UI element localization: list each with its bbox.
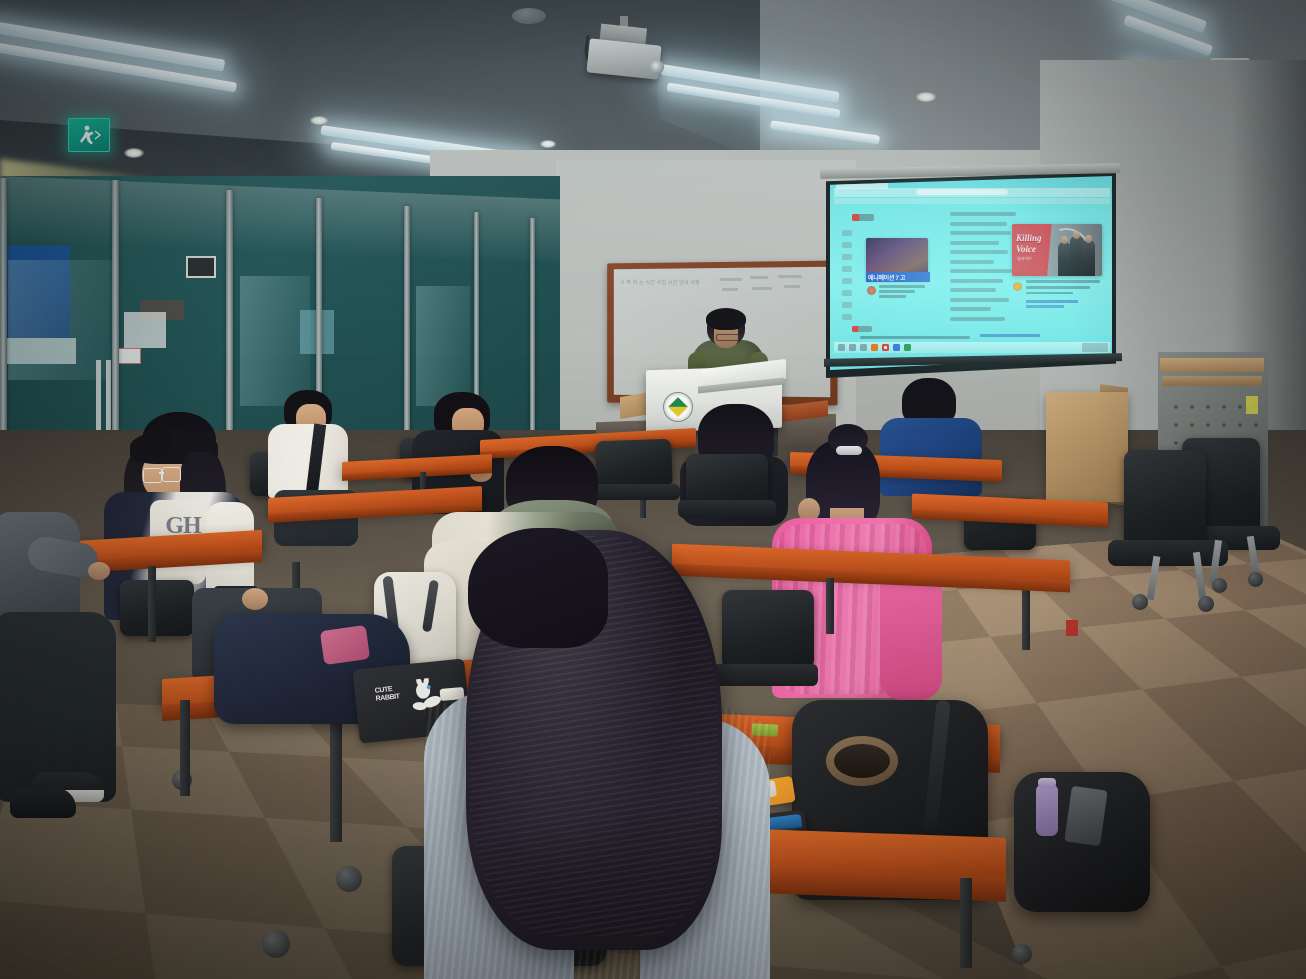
app-icon-green[interactable] xyxy=(904,344,911,351)
video-link[interactable] xyxy=(1026,300,1078,303)
list-item[interactable] xyxy=(950,317,1005,321)
item-in-backpack xyxy=(1064,786,1107,846)
desk-leg xyxy=(148,566,156,642)
desk-leg xyxy=(826,578,834,634)
thumbnail-figure-head xyxy=(1073,231,1080,239)
shelf-plank xyxy=(1162,376,1262,386)
site-logo-icon[interactable] xyxy=(852,214,874,221)
whiteboard-mark xyxy=(722,288,738,291)
eyeglasses-icon xyxy=(143,468,162,483)
stacked-chair-seat[interactable] xyxy=(1108,540,1228,566)
chair-caster xyxy=(1212,578,1227,593)
sidebar-icon[interactable] xyxy=(842,290,852,296)
sidebar-icon[interactable] xyxy=(842,302,852,308)
sidebar-icon[interactable] xyxy=(842,230,852,236)
site-logo-icon-bottom[interactable] xyxy=(852,326,872,332)
classroom-chair[interactable] xyxy=(595,439,673,490)
list-item[interactable] xyxy=(950,279,1003,283)
glass-door-handle[interactable] xyxy=(96,360,101,438)
list-item[interactable] xyxy=(950,307,991,311)
floor-marker xyxy=(1066,620,1078,636)
classroom-chair[interactable] xyxy=(120,580,194,636)
whiteboard-mark xyxy=(750,276,768,279)
video-title-left[interactable]: 에니메이션 7 고 xyxy=(866,272,930,282)
taskbar-clock[interactable] xyxy=(1082,343,1108,352)
shelf-plank xyxy=(1160,358,1264,372)
chair-seat[interactable] xyxy=(712,664,818,686)
recessed-downlight xyxy=(540,140,556,148)
channel-avatar[interactable] xyxy=(1013,282,1022,291)
list-item[interactable] xyxy=(950,298,1009,302)
bottle-cap xyxy=(1038,778,1056,788)
chrome-icon[interactable] xyxy=(882,344,889,351)
recessed-downlight xyxy=(310,116,328,125)
chair-seat[interactable] xyxy=(588,484,680,500)
chair-caster xyxy=(1132,594,1148,610)
sidebar-icon[interactable] xyxy=(842,242,852,248)
horizontal-scrollbar[interactable] xyxy=(860,336,970,339)
pink-item-on-coat xyxy=(320,625,370,665)
sidebar-icon[interactable] xyxy=(842,278,852,284)
eyeglasses-bridge xyxy=(159,472,164,474)
list-item[interactable] xyxy=(950,288,996,292)
student-hand xyxy=(88,562,110,580)
whiteboard-mark xyxy=(784,285,800,288)
whiteboard-mark xyxy=(720,278,742,281)
thumbnail-figure-head xyxy=(1061,236,1068,244)
whiteboard-mark xyxy=(752,287,772,290)
taskbar-app-icons[interactable] xyxy=(838,343,911,352)
channel-avatar[interactable] xyxy=(867,286,876,295)
start-menu-icon[interactable] xyxy=(838,344,845,351)
tablet-case-text: CUTERABBIT xyxy=(375,684,410,703)
whiteboard-notes: 시 작 하 는 시간 수업 시간 안내 사항 xyxy=(620,280,700,314)
classroom-chair[interactable] xyxy=(722,590,814,670)
recessed-downlight xyxy=(916,92,936,102)
wall-frame xyxy=(186,256,216,278)
list-item[interactable] xyxy=(950,269,1012,273)
water-bottle[interactable] xyxy=(1036,784,1058,836)
classroom-chair[interactable] xyxy=(686,454,768,506)
chair-caster xyxy=(1248,572,1263,587)
thumbnail-subtitle: 딜라이브 xyxy=(1017,256,1057,261)
chair-caster xyxy=(1198,596,1214,612)
wall-notice-white xyxy=(124,312,166,348)
video-thumbnail-right[interactable]: Killing Voice 딜라이브 xyxy=(1012,224,1102,276)
desk-leg xyxy=(960,878,972,968)
video-meta-right xyxy=(1026,280,1100,297)
thumbnail-title-text2: Voice xyxy=(1016,244,1036,254)
list-item[interactable] xyxy=(950,260,994,264)
presenter-hair xyxy=(706,308,746,330)
sidebar-icon[interactable] xyxy=(842,314,852,320)
list-item[interactable] xyxy=(950,212,1016,216)
smoke-detector-icon xyxy=(512,8,546,24)
chair-seat[interactable] xyxy=(678,500,776,518)
school-crest-icon xyxy=(663,392,693,422)
search-icon[interactable] xyxy=(849,344,856,351)
exit-sign-icon xyxy=(68,118,110,152)
projection-screen[interactable]: 에니메이션 7 고 Killing Voice 딜라이브 xyxy=(830,176,1112,370)
glass-reflection xyxy=(416,286,470,406)
eyeglasses-icon xyxy=(716,334,739,341)
classroom-scene: 시 작 하 는 시간 수업 시간 안내 사항 xyxy=(0,0,1306,979)
video-meta-left xyxy=(879,285,925,301)
list-item[interactable] xyxy=(950,231,1011,235)
sidebar-icon[interactable] xyxy=(842,254,852,260)
app-icon-blue[interactable] xyxy=(893,344,900,351)
desk-leg xyxy=(180,700,190,796)
video-link[interactable] xyxy=(1026,305,1064,308)
thumbnail-figure xyxy=(1082,240,1095,276)
desk-leg xyxy=(330,712,342,842)
thumbnail-figure-head xyxy=(1085,235,1092,243)
desk-caster xyxy=(262,930,290,958)
list-item[interactable] xyxy=(950,222,1007,226)
thumbnail-title-text: Killing xyxy=(1016,234,1058,243)
recessed-downlight xyxy=(124,148,144,158)
glass-door-handle[interactable] xyxy=(106,360,111,438)
cabinet xyxy=(1046,392,1128,502)
eyeglasses-icon xyxy=(162,467,181,482)
student-hand xyxy=(242,588,268,610)
video-list[interactable] xyxy=(950,212,1016,342)
shelf-tag xyxy=(1246,396,1258,414)
sidebar-icon[interactable] xyxy=(842,266,852,272)
desk-caster xyxy=(1012,944,1032,964)
app-icon-orange[interactable] xyxy=(871,344,878,351)
browser-address-bar[interactable] xyxy=(916,189,1008,195)
list-item[interactable] xyxy=(950,250,1008,254)
desk-caster xyxy=(336,866,362,892)
explorer-icon[interactable] xyxy=(860,344,867,351)
whiteboard-mark xyxy=(778,275,802,278)
browser-bookmarks-bar xyxy=(834,198,1110,204)
student-foreground-hair-front xyxy=(468,528,608,648)
list-item[interactable] xyxy=(950,241,999,245)
shoe xyxy=(10,788,76,818)
bag-interior xyxy=(834,744,890,778)
progress-bar[interactable] xyxy=(980,334,1040,337)
hair-tie xyxy=(836,446,862,455)
